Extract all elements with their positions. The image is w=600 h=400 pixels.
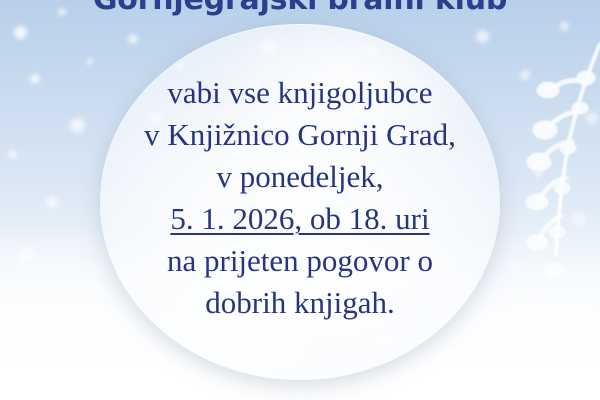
invitation-line-1: vabi vse knjigoljubce xyxy=(0,72,600,114)
page-title: Gornjegrajski bralni klub xyxy=(0,0,600,17)
winter-event-poster: Gornjegrajski bralni klub vabi vse knjig… xyxy=(0,0,600,400)
invitation-line-5: na prijeten pogovor o xyxy=(0,240,600,282)
invitation-line-2: v Knjižnico Gornji Grad, xyxy=(0,114,600,156)
event-datetime: 5. 1. 2026, ob 18. uri xyxy=(0,198,600,240)
event-invitation-text: vabi vse knjigoljubce v Knjižnico Gornji… xyxy=(0,72,600,324)
invitation-line-3: v ponedeljek, xyxy=(0,156,600,198)
invitation-line-6: dobrih knjigah. xyxy=(0,282,600,324)
